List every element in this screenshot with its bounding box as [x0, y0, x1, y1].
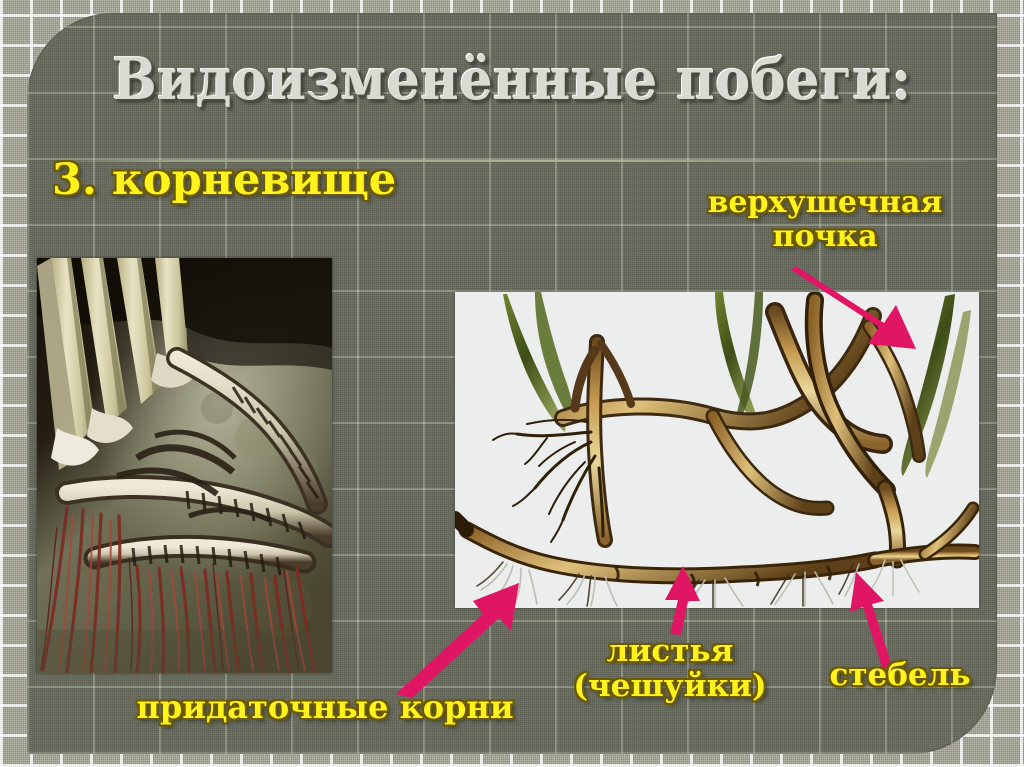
subtitle-korneviche: 3. корневище [52, 156, 396, 204]
photo-artwork [37, 258, 332, 673]
page-title: Видоизменённые побеги: [41, 46, 983, 113]
rhizome-drawing [455, 292, 979, 608]
label-apical-bud: верхушечная почка [660, 186, 990, 253]
illustration-artwork [455, 292, 979, 608]
label-stem: стебель [810, 658, 990, 693]
rhizome-photograph [37, 258, 332, 673]
label-adventitious-roots: придаточные корни [105, 690, 545, 726]
label-leaves-scales: листья (чешуйки) [545, 634, 795, 703]
slide: Видоизменённые побеги: 3. корневище [0, 0, 1024, 767]
